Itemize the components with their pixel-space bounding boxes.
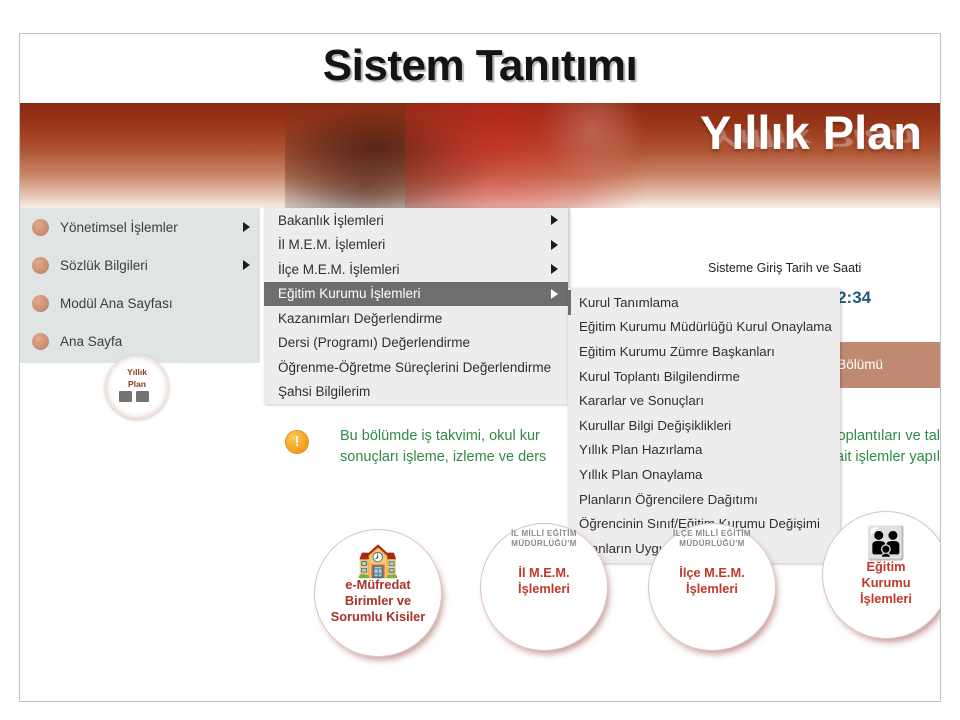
menu-item-label: İl M.E.M. İşlemleri [278, 237, 385, 252]
bullet-icon [32, 219, 49, 236]
circle-label-line2: Kurumu [822, 575, 940, 591]
teacher-board-icon: 👪 [822, 527, 940, 559]
chevron-right-icon [551, 240, 558, 250]
menu-item-label: İlçe M.E.M. İşlemleri [278, 262, 400, 277]
document-icon [119, 391, 132, 402]
menu-item-label: Eğitim Kurumu Müdürlüğü Kurul Onaylama [579, 319, 832, 334]
circle-arc-line2: MÜDÜRLÜĞÜ'M [648, 539, 776, 548]
menu-item-label: Öğrenme-Öğretme Süreçlerini Değerlendirm… [278, 360, 551, 375]
menu-item-egitim-kurumu-mudurlugu-kurul-onaylama[interactable]: Eğitim Kurumu Müdürlüğü Kurul Onaylama [568, 315, 840, 340]
circle-arc-text: İL MİLLİ EĞİTİM MÜDÜRLÜĞÜ'M [480, 529, 608, 548]
nav-item-modul-ana-sayfasi[interactable]: Modül Ana Sayfası [20, 284, 260, 322]
bullet-icon [32, 295, 49, 312]
slide-root: Sistem Tanıtımı Yıllık Plan Yıllık Plan … [0, 0, 960, 720]
circle-arc-text: İLÇE MİLLİ EĞİTİM MÜDÜRLÜĞÜ'M [648, 529, 776, 548]
menu-item-il-mem-islemleri[interactable]: İl M.E.M. İşlemleri [264, 233, 568, 258]
nav-item-label: Yönetimsel İşlemler [60, 220, 178, 235]
circle-label-line2: Birimler ve [314, 593, 442, 609]
page-title: Sistem Tanıtımı [0, 41, 960, 91]
circle-button-egitim-kurumu-islemleri[interactable]: 👪 Eğitim Kurumu İşlemleri [822, 511, 940, 639]
menu-item-kurul-tanimlama[interactable]: Kurul Tanımlama [568, 290, 840, 315]
circle-label-line1: e-Müfredat [314, 577, 442, 593]
badge-line2: Plan [106, 379, 168, 389]
banner-title: Yıllık Plan [700, 105, 922, 160]
menu-item-label: Yıllık Plan Hazırlama [579, 442, 702, 457]
menu-item-label: Kararlar ve Sonuçları [579, 393, 704, 408]
circle-arc-line2: MÜDÜRLÜĞÜ'M [480, 539, 608, 548]
menu-item-yillik-plan-hazirlama[interactable]: Yıllık Plan Hazırlama [568, 438, 840, 463]
menu-item-kurullar-bilgi-degisiklikleri[interactable]: Kurullar Bilgi Değişiklikleri [568, 413, 840, 438]
menu-item-label: Kazanımları Değerlendirme [278, 311, 442, 326]
menu-item-ilce-mem-islemleri[interactable]: İlçe M.E.M. İşlemleri [264, 257, 568, 282]
warning-icon [286, 431, 308, 453]
school-building-icon: 🏫 [314, 543, 442, 577]
shortcut-circles: 🏫 e-Müfredat Birimler ve Sorumlu Kisiler… [20, 501, 940, 701]
menu-item-egitim-kurumu-islemleri[interactable]: Eğitim Kurumu İşlemleri [264, 282, 568, 307]
chevron-right-icon [243, 260, 250, 270]
menu-item-egitim-kurumu-zumre-baskanlari[interactable]: Eğitim Kurumu Zümre Başkanları [568, 339, 840, 364]
circle-arc-line1: İLÇE MİLLİ EĞİTİM [673, 529, 751, 538]
info-line1-right: toplantıları ve tal [834, 426, 940, 447]
info-line2-left: sonuçları işleme, izleme ve ders [340, 449, 546, 465]
menu-item-kazanimlari-degerlendirme[interactable]: Kazanımları Değerlendirme [264, 306, 568, 331]
circle-label-line2: İşlemleri [648, 581, 776, 597]
yillik-plan-badge[interactable]: Yıllık Plan [105, 355, 169, 419]
menu-item-label: Eğitim Kurumu İşlemleri [278, 286, 421, 301]
menu-item-label: Eğitim Kurumu Zümre Başkanları [579, 344, 775, 359]
menu-item-label: Şahsi Bilgilerim [278, 384, 370, 399]
application-screenshot: Yıllık Plan Yıllık Plan Yönetimsel İşlem… [20, 103, 940, 701]
chevron-right-icon [551, 289, 558, 299]
bullet-icon [32, 333, 49, 350]
circle-button-e-mufredat[interactable]: 🏫 e-Müfredat Birimler ve Sorumlu Kisiler [314, 529, 442, 657]
menu-item-label: Kurul Toplantı Bilgilendirme [579, 369, 740, 384]
left-nav-panel: Yönetimsel İşlemler Sözlük Bilgileri Mod… [20, 208, 260, 363]
menu-item-label: Kurul Tanımlama [579, 295, 679, 310]
nav-item-sozluk-bilgileri[interactable]: Sözlük Bilgileri [20, 246, 260, 284]
circle-label-line2: İşlemleri [480, 581, 608, 597]
nav-item-label: Sözlük Bilgileri [60, 258, 148, 273]
menu-item-label: Bakanlık İşlemleri [278, 213, 384, 228]
menu-level-2: Bakanlık İşlemleri İl M.E.M. İşlemleri İ… [264, 208, 569, 404]
circle-label-line3: Sorumlu Kisiler [314, 609, 442, 625]
menu-item-yillik-plan-onaylama[interactable]: Yıllık Plan Onaylama [568, 462, 840, 487]
chevron-right-icon [551, 264, 558, 274]
circle-label-line3: İşlemleri [822, 591, 940, 607]
nav-item-label: Modül Ana Sayfası [60, 296, 173, 311]
circle-button-ilce-mem-islemleri[interactable]: İLÇE MİLLİ EĞİTİM MÜDÜRLÜĞÜ'M İlçe M.E.M… [648, 523, 776, 651]
app-banner: Yıllık Plan Yıllık Plan [20, 103, 940, 208]
menu-item-label: Kurullar Bilgi Değişiklikleri [579, 418, 731, 433]
briefcase-icon [136, 391, 149, 402]
menu-item-label: Yıllık Plan Onaylama [579, 467, 702, 482]
menu-item-bakanlik-islemleri[interactable]: Bakanlık İşlemleri [264, 208, 568, 233]
badge-icons [119, 391, 149, 402]
circle-button-il-mem-islemleri[interactable]: İL MİLLİ EĞİTİM MÜDÜRLÜĞÜ'M İl M.E.M. İş… [480, 523, 608, 651]
menu-item-kararlar-ve-sonuclari[interactable]: Kararlar ve Sonuçları [568, 388, 840, 413]
badge-line1: Yıllık [106, 367, 168, 377]
circle-label-line1: Eğitim [822, 559, 940, 575]
bullet-icon [32, 257, 49, 274]
menu-item-label: Dersi (Programı) Değerlendirme [278, 335, 470, 350]
turkish-flag-icon [405, 103, 705, 208]
chevron-right-icon [551, 215, 558, 225]
menu-item-kurul-toplanti-bilgilendirme[interactable]: Kurul Toplantı Bilgilendirme [568, 364, 840, 389]
menu-item-sahsi-bilgilerim[interactable]: Şahsi Bilgilerim [264, 380, 568, 405]
menu-item-ogrenme-ogretme-sureclerini-degerlendirme[interactable]: Öğrenme-Öğretme Süreçlerini Değerlendirm… [264, 355, 568, 380]
info-line2-right: ait işlemler yapıl [836, 447, 940, 468]
circle-arc-line1: İL MİLLİ EĞİTİM [511, 529, 577, 538]
nav-item-label: Ana Sayfa [60, 334, 122, 349]
circle-label-line1: İlçe M.E.M. [648, 565, 776, 581]
nav-item-yonetimsel-islemler[interactable]: Yönetimsel İşlemler [20, 208, 260, 246]
menu-item-dersi-programi-degerlendirme[interactable]: Dersi (Programı) Değerlendirme [264, 331, 568, 356]
info-line1-left: Bu bölümde iş takvimi, okul kur [340, 428, 540, 444]
circle-label-line1: İl M.E.M. [480, 565, 608, 581]
chevron-right-icon [243, 222, 250, 232]
login-datetime-label: Sisteme Giriş Tarih ve Saati [708, 261, 861, 275]
